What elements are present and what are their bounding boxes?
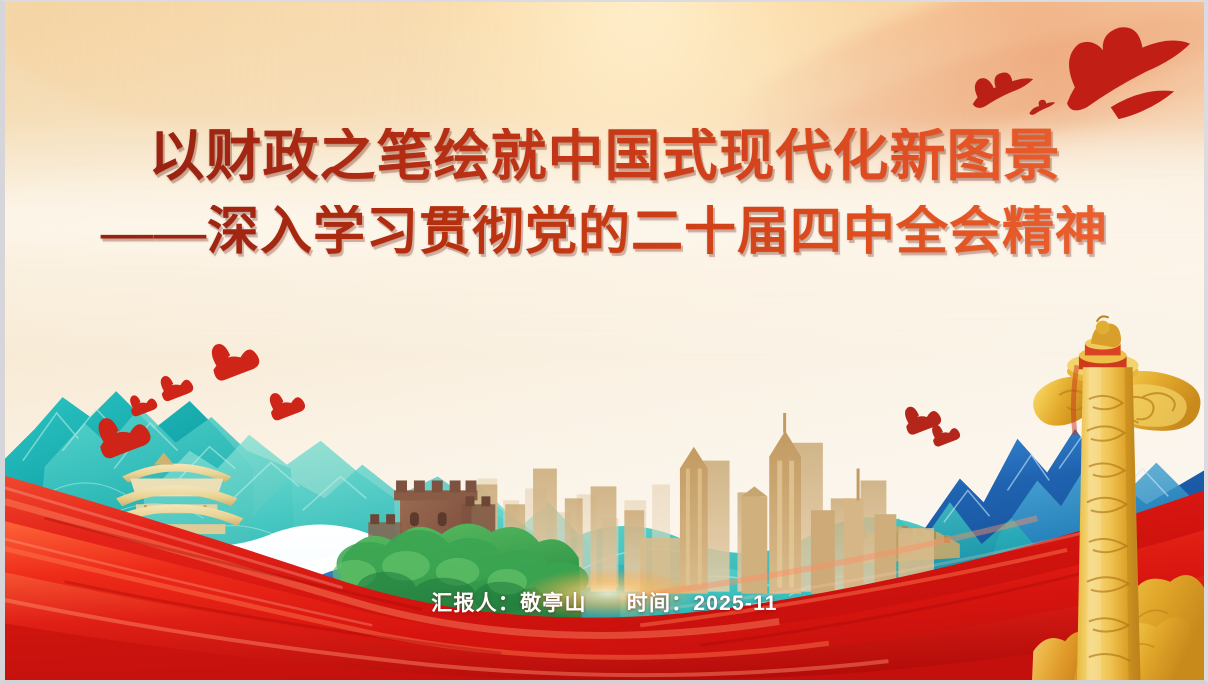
slide-canvas: 以财政之笔绘就中国式现代化新图景 ——深入学习贯彻党的二十届四中全会精神 汇报人…: [5, 2, 1204, 680]
presentation-cover-slide: 以财政之笔绘就中国式现代化新图景 ——深入学习贯彻党的二十届四中全会精神 汇报人…: [0, 0, 1208, 683]
page-subtitle: ——深入学习贯彻党的二十届四中全会精神: [5, 205, 1204, 260]
dove-pair-right: [905, 407, 960, 447]
title-block: 以财政之笔绘就中国式现代化新图景 ——深入学习贯彻党的二十届四中全会精神: [5, 128, 1204, 260]
date-label: 时间：2025-11: [627, 587, 778, 617]
dove-large-top-right: [973, 27, 1190, 119]
page-title: 以财政之笔绘就中国式现代化新图景: [5, 128, 1204, 187]
footer-meta: 汇报人：敬亭山 时间：2025-11: [5, 587, 1204, 617]
presenter-label: 汇报人：敬亭山: [431, 587, 586, 617]
scenery-artwork: [5, 2, 1204, 680]
